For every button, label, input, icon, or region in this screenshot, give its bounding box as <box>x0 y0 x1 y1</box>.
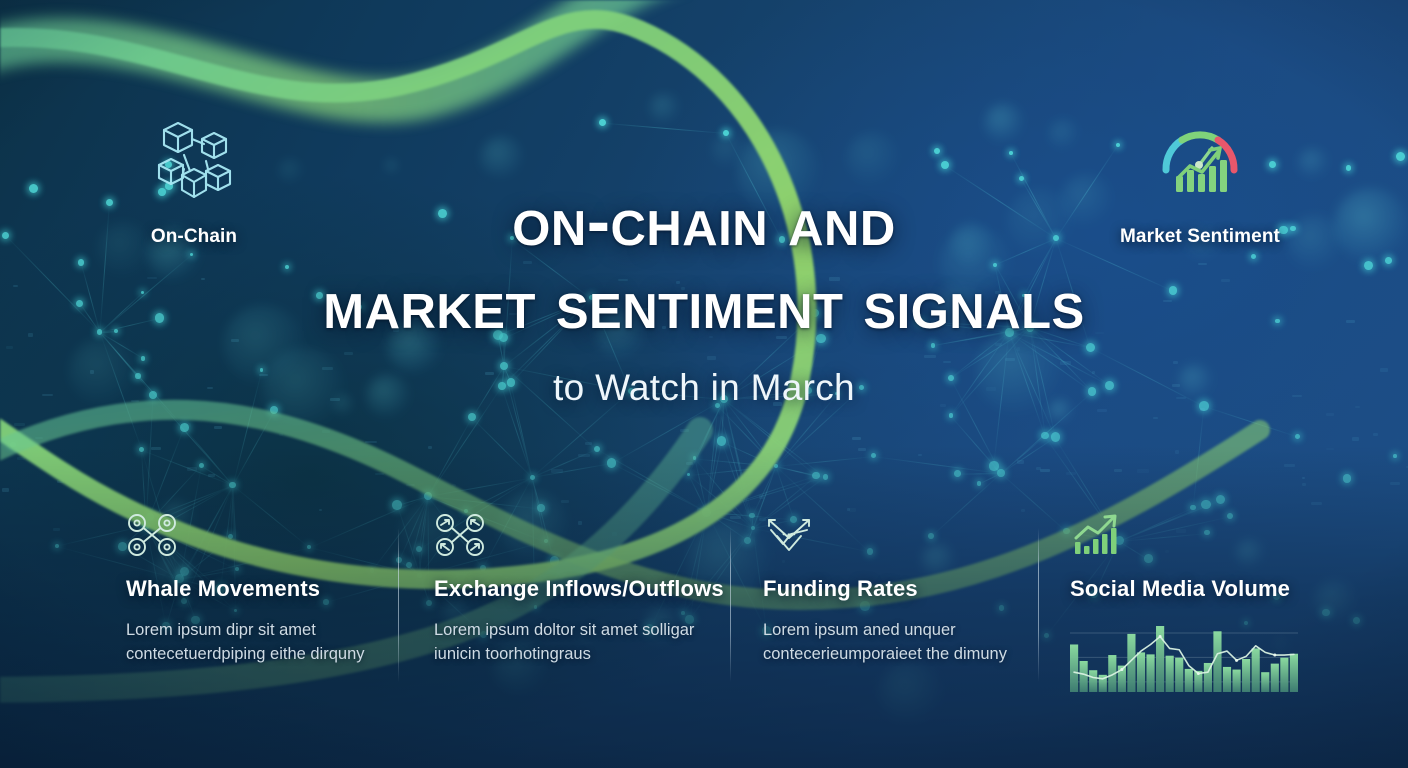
card-title: Funding Rates <box>763 576 1013 602</box>
card-funding-rates[interactable]: Funding Rates Lorem ipsum aned unquer co… <box>763 512 1013 667</box>
funding-rate-crossing-arrows-icon <box>763 512 1013 558</box>
card-social-media-volume[interactable]: Social Media Volume <box>1070 512 1310 612</box>
social-volume-minichart <box>1070 620 1298 692</box>
card-divider <box>1038 528 1039 682</box>
exchange-flow-arrows-icon <box>434 512 724 558</box>
card-title: Exchange Inflows/Outflows <box>434 576 724 602</box>
card-description: Lorem ipsum aned unquer contecerieumpora… <box>763 618 1013 667</box>
headline-subtitle: to Watch in March <box>0 367 1408 409</box>
headline-line-1: On-Chain and <box>0 186 1408 257</box>
card-divider <box>730 528 731 682</box>
card-title: Whale Movements <box>126 576 376 602</box>
growth-bar-chart-arrow-icon <box>1070 512 1310 558</box>
headline-block: On-Chain and Market Sentiment Signals to… <box>0 186 1408 409</box>
card-divider <box>398 528 399 682</box>
headline-line-2: Market Sentiment Signals <box>0 269 1408 340</box>
feature-card-row: Whale Movements Lorem ipsum dipr sit ame… <box>0 512 1408 712</box>
card-description: Lorem ipsum doltor sit amet solligar iun… <box>434 618 724 667</box>
card-exchange-inflows-outflows[interactable]: Exchange Inflows/Outflows Lorem ipsum do… <box>434 512 724 667</box>
whale-network-nodes-icon <box>126 512 376 558</box>
card-whale-movements[interactable]: Whale Movements Lorem ipsum dipr sit ame… <box>126 512 376 667</box>
card-title: Social Media Volume <box>1070 576 1310 602</box>
card-description: Lorem ipsum dipr sit amet contecetuerdpi… <box>126 618 376 667</box>
poster-canvas: On-Chain Market Sentiment <box>0 0 1408 768</box>
